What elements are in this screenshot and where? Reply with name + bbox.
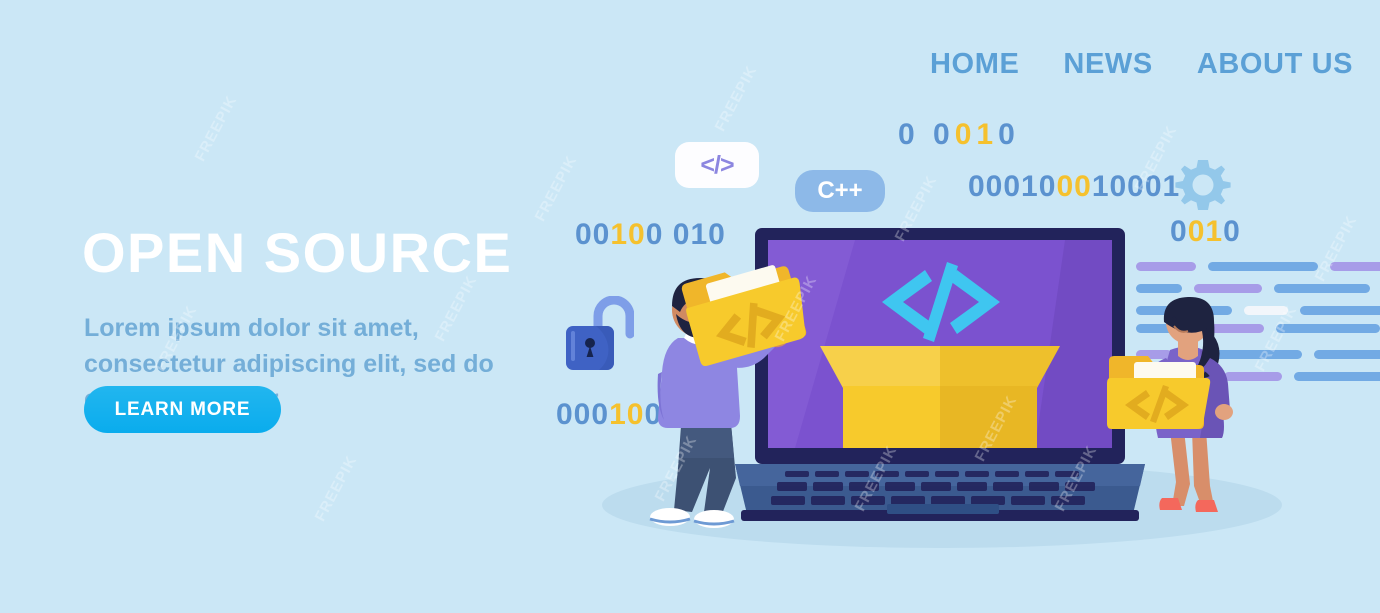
code-line-bar xyxy=(1274,284,1370,293)
code-tag-badge: </> xyxy=(675,142,759,188)
code-line-bar xyxy=(1136,262,1196,271)
watermark-text: FREEPIK xyxy=(192,93,241,165)
watermark-text: FREEPIK xyxy=(532,153,581,225)
binary-top-long: 000100010001 xyxy=(968,170,1180,204)
code-line-bar xyxy=(1330,262,1380,271)
code-line-bar xyxy=(1314,350,1380,359)
watermark-text: FREEPIK xyxy=(312,453,361,525)
woman-character xyxy=(1100,292,1270,520)
cpp-badge-label: C++ xyxy=(817,177,862,205)
page-title: OPEN SOURCE xyxy=(82,220,512,285)
nav-item-home[interactable]: HOME xyxy=(930,48,1019,81)
binary-right-gear: 0010 xyxy=(1170,215,1241,249)
cpp-language-badge: C++ xyxy=(795,170,885,212)
nav-item-news[interactable]: NEWS xyxy=(1063,48,1152,81)
code-folder-icon xyxy=(679,262,815,367)
man-character xyxy=(626,262,816,540)
code-line-bar xyxy=(1300,306,1380,315)
gear-icon xyxy=(1174,158,1232,216)
top-navigation: HOME NEWS ABOUT US xyxy=(930,48,1353,81)
open-box-icon xyxy=(820,346,1060,448)
learn-more-button[interactable]: LEARN MORE xyxy=(84,386,281,433)
hero-banner: HOME NEWS ABOUT US OPEN SOURCE Lorem ips… xyxy=(0,0,1380,613)
code-brackets-icon: </> xyxy=(700,151,733,180)
code-line-bar xyxy=(1294,372,1380,381)
nav-item-about-us[interactable]: ABOUT US xyxy=(1197,48,1353,81)
binary-left-upper: 00100 010 xyxy=(575,218,726,252)
open-padlock-icon xyxy=(562,296,634,382)
binary-top-short: 0 0010 xyxy=(898,118,1020,152)
code-line-bar xyxy=(1208,262,1318,271)
code-line-bar xyxy=(1276,324,1380,333)
code-folder-icon xyxy=(1107,356,1210,429)
watermark-text: FREEPIK xyxy=(712,63,761,135)
